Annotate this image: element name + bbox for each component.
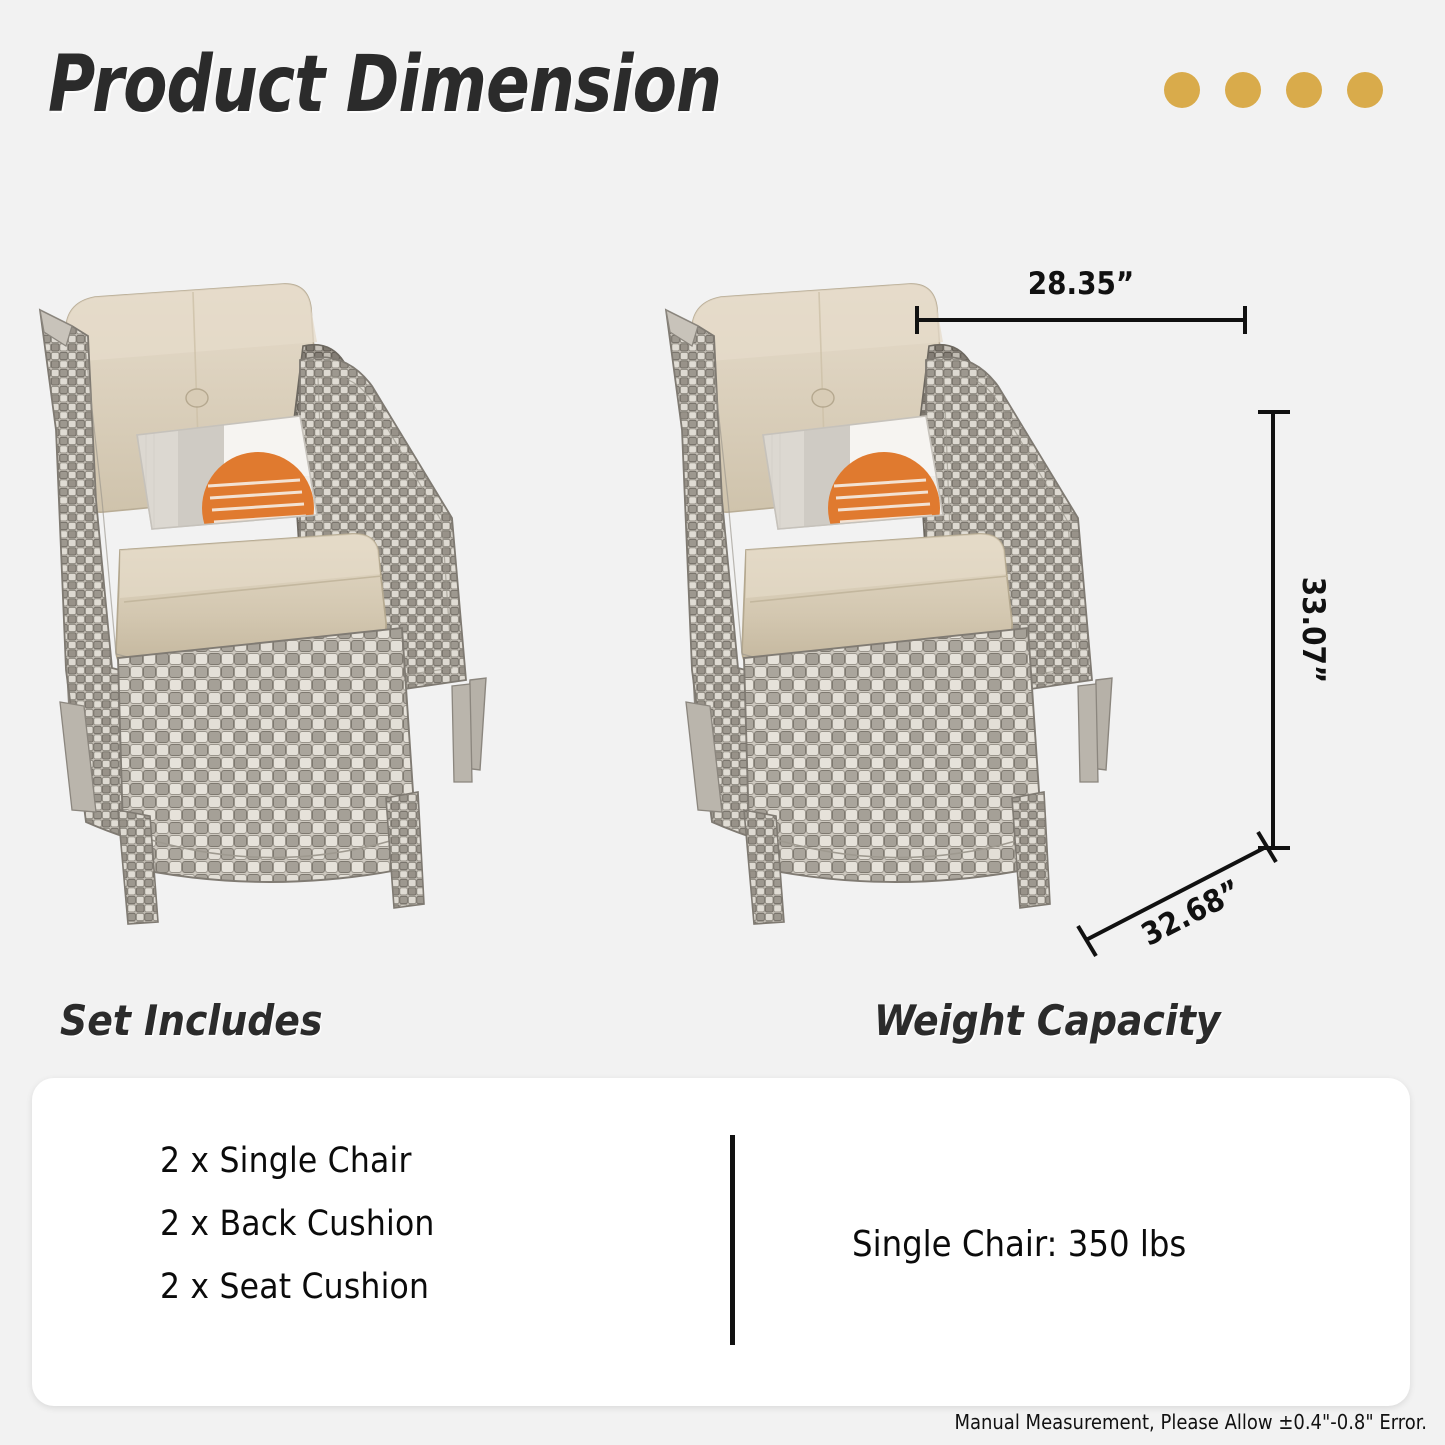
info-card: 2 x Single Chair 2 x Back Cushion 2 x Se… <box>32 1078 1410 1406</box>
chair-left <box>40 284 486 924</box>
dimension-height <box>1258 412 1290 848</box>
weight-capacity-value: Single Chair: 350 lbs <box>852 1227 1186 1263</box>
card-divider <box>730 1135 735 1345</box>
footer-disclaimer: Manual Measurement, Please Allow ±0.4"-0… <box>954 1412 1427 1432</box>
list-item: 2 x Back Cushion <box>160 1193 435 1256</box>
list-item: 2 x Seat Cushion <box>160 1256 435 1319</box>
product-dimension-infographic: Product Dimension <box>0 0 1445 1445</box>
product-illustration: 28.35” 33.07” 32.68” <box>0 250 1445 970</box>
set-includes-list: 2 x Single Chair 2 x Back Cushion 2 x Se… <box>160 1130 435 1319</box>
decorative-dot-icon <box>1225 72 1261 108</box>
weight-capacity-title: Weight Capacity <box>874 1000 1221 1042</box>
chair-right <box>666 284 1112 924</box>
list-item: 2 x Single Chair <box>160 1130 435 1193</box>
set-includes-title: Set Includes <box>60 1000 322 1042</box>
dimension-width <box>917 306 1245 334</box>
decorative-dot-icon <box>1286 72 1322 108</box>
page-title: Product Dimension <box>48 46 721 124</box>
decorative-dot-group <box>1164 72 1383 108</box>
decorative-dot-icon <box>1164 72 1200 108</box>
dimension-height-label: 33.07” <box>1295 577 1331 684</box>
decorative-dot-icon <box>1347 72 1383 108</box>
dimension-width-label: 28.35” <box>1028 266 1135 302</box>
